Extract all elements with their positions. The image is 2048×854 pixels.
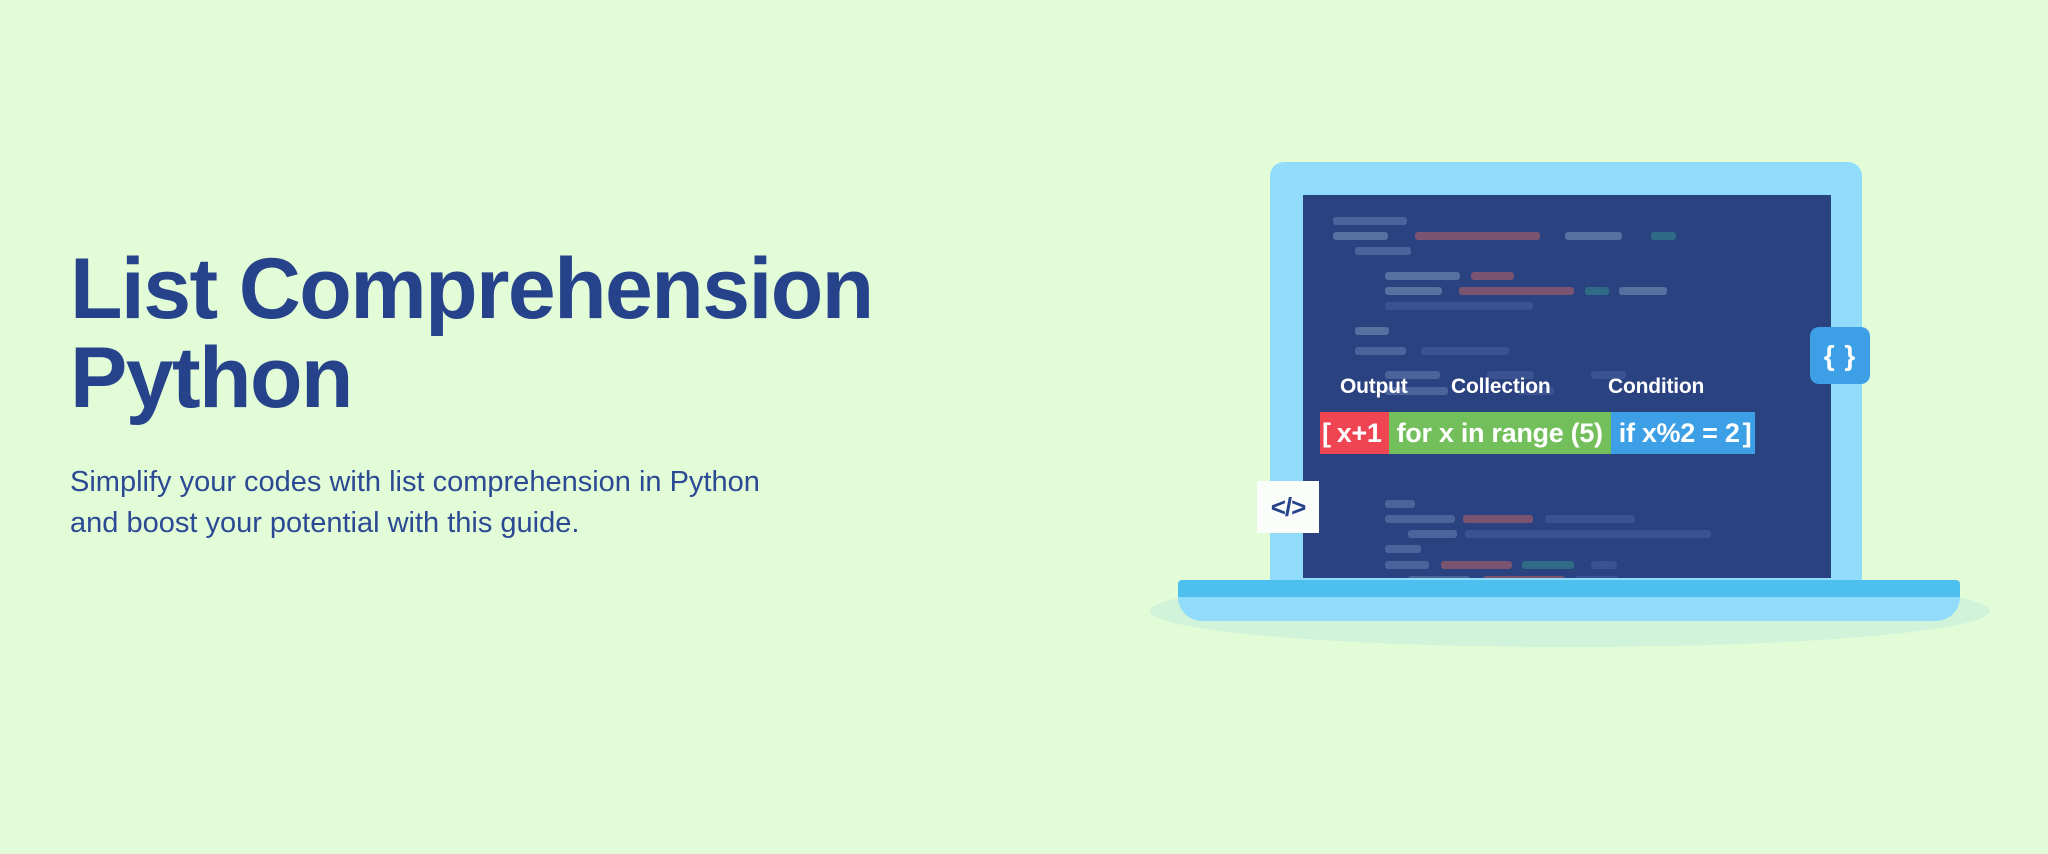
- code-line-bar: [1483, 576, 1565, 578]
- code-line-bar: [1355, 347, 1406, 355]
- code-line-bar: [1421, 347, 1509, 355]
- code-line-bar: [1459, 287, 1574, 295]
- code-line-bar: [1463, 515, 1533, 523]
- code-expression: [ x+1 for x in range (5) if x%2 = 2 ]: [1320, 412, 1755, 454]
- laptop-base-top: [1178, 580, 1960, 597]
- page-title: List Comprehension Python: [70, 245, 1080, 424]
- code-line-bar: [1385, 545, 1421, 553]
- code-line-bar: [1385, 302, 1533, 310]
- code-bracket-close: ]: [1743, 412, 1756, 454]
- code-line-bar: [1591, 561, 1617, 569]
- code-tag-icon: </>: [1257, 481, 1319, 533]
- code-line-bar: [1333, 232, 1388, 240]
- code-line-bar: [1333, 217, 1407, 225]
- code-line-bar: [1545, 515, 1635, 523]
- code-segment-output: x+1: [1332, 412, 1389, 454]
- label-condition: Condition: [1608, 375, 1704, 399]
- curly-braces-icon: { }: [1810, 327, 1870, 384]
- code-line-bar: [1385, 500, 1415, 508]
- label-output: Output: [1340, 375, 1408, 399]
- code-bracket-open: [: [1320, 412, 1332, 454]
- hero-text-block: List Comprehension Python Simplify your …: [70, 245, 1080, 544]
- laptop-base-bottom: [1178, 597, 1960, 621]
- page-subtitle: Simplify your codes with list comprehens…: [70, 462, 1080, 544]
- hero-banner: List Comprehension Python Simplify your …: [0, 0, 2048, 854]
- code-line-bar: [1355, 247, 1411, 255]
- code-line-bar: [1408, 576, 1470, 578]
- code-line-bar: [1385, 561, 1429, 569]
- code-line-bar: [1441, 561, 1512, 569]
- code-line-bar: [1471, 272, 1514, 280]
- code-line-bar: [1355, 327, 1389, 335]
- label-collection: Collection: [1451, 375, 1551, 399]
- code-annotation-labels: Output Collection Condition: [1303, 375, 1831, 405]
- laptop-illustration: Output Collection Condition [ x+1 for x …: [1130, 150, 2048, 650]
- code-line-bar: [1415, 232, 1540, 240]
- code-line-bar: [1385, 515, 1455, 523]
- code-line-bar: [1565, 232, 1622, 240]
- code-line-bar: [1522, 561, 1574, 569]
- code-line-bar: [1465, 530, 1711, 538]
- code-line-bar: [1575, 576, 1619, 578]
- code-segment-collection: for x in range (5): [1389, 412, 1611, 454]
- code-line-bar: [1385, 272, 1460, 280]
- code-segment-condition: if x%2 = 2: [1611, 412, 1743, 454]
- code-line-bar: [1619, 287, 1667, 295]
- code-line-bar: [1585, 287, 1609, 295]
- code-line-bar: [1408, 530, 1457, 538]
- code-line-bar: [1651, 232, 1676, 240]
- code-line-bar: [1385, 287, 1442, 295]
